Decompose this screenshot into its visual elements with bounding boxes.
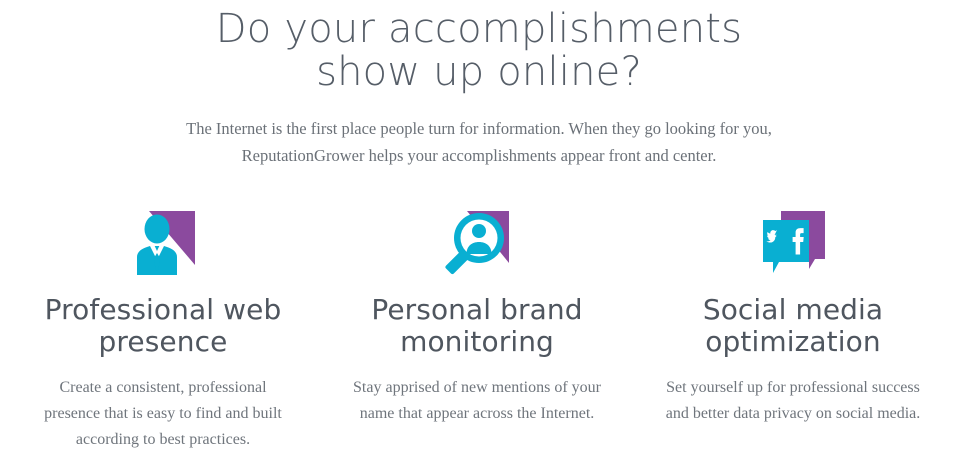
feature-title-line-1: Professional web [14,294,312,326]
feature-description-line-2: presence that is easy to find and built [27,401,299,427]
feature-description-line-2: and better data privacy on social media. [642,401,944,427]
feature-description-line-2: name that appear across the Internet. [329,401,625,427]
feature-description-line-3: according to best practices. [27,427,299,453]
feature-description: Stay apprised of new mentions of your na… [329,375,625,427]
feature-title-line-1: Personal brand [328,294,626,326]
feature-description-line-1: Create a consistent, professional [27,375,299,401]
social-speech-bubbles-icon [642,200,944,286]
feature-title-line-2: optimization [642,326,944,358]
feature-description-line-1: Stay apprised of new mentions of your [329,375,625,401]
feature-title-line-1: Social media [642,294,944,326]
feature-card-professional-web-presence: Professional web presence Create a consi… [6,200,320,453]
feature-title: Personal brand monitoring [328,294,626,359]
feature-card-personal-brand-monitoring: Personal brand monitoring Stay apprised … [320,200,634,453]
page-subtitle-line-1: The Internet is the first place people t… [129,116,829,143]
feature-card-social-media-optimization: Social media optimization Set yourself u… [634,200,952,453]
feature-title: Professional web presence [14,294,312,359]
landing-page-section: Do your accomplishments show up online? … [0,0,958,473]
feature-columns: Professional web presence Create a consi… [0,200,958,453]
page-subtitle: The Internet is the first place people t… [129,116,829,169]
feature-description: Create a consistent, professional presen… [27,375,299,453]
magnifier-person-icon [328,200,626,286]
hero-block: Do your accomplishments show up online? … [0,0,958,170]
feature-title-line-2: monitoring [328,326,626,358]
feature-description-line-1: Set yourself up for professional success [642,375,944,401]
businessperson-icon [14,200,312,286]
feature-title-line-2: presence [14,326,312,358]
page-title: Do your accomplishments show up online? [0,8,958,94]
page-subtitle-line-2: ReputationGrower helps your accomplishme… [129,143,829,170]
feature-title: Social media optimization [642,294,944,359]
feature-description: Set yourself up for professional success… [642,375,944,427]
page-title-line-2: show up online? [0,51,958,94]
page-title-line-1: Do your accomplishments [0,8,958,51]
